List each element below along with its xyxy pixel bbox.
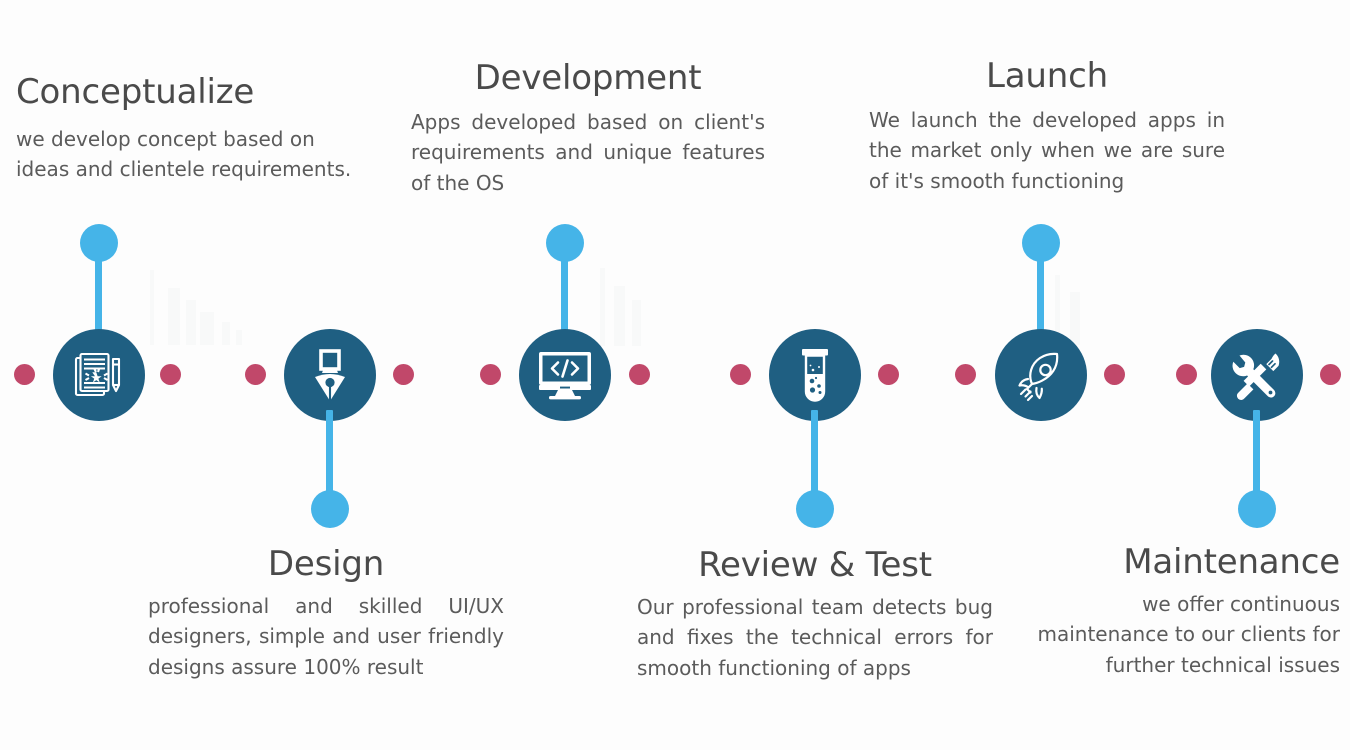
text-block-development: Development Apps developed based on clie… xyxy=(411,60,765,198)
step-description: we develop concept based on ideas and cl… xyxy=(16,124,374,185)
pen-nib-icon xyxy=(305,347,355,403)
text-block-conceptualize: Conceptualize we develop concept based o… xyxy=(16,74,374,185)
background-watermark xyxy=(600,268,605,346)
step-title: Conceptualize xyxy=(16,74,374,110)
node-icon-design[interactable] xyxy=(284,329,376,421)
test-tube-icon xyxy=(793,346,837,404)
axis-dot xyxy=(1176,364,1197,385)
background-watermark xyxy=(632,300,641,346)
axis-dot xyxy=(629,364,650,385)
background-watermark xyxy=(200,312,214,345)
text-block-maintenance: Maintenance we offer continuous maintena… xyxy=(1010,544,1340,680)
axis-dot xyxy=(730,364,751,385)
documents-with-star-and-pencil-icon xyxy=(71,347,127,403)
monitor-code-icon xyxy=(536,349,594,401)
background-watermark xyxy=(222,322,230,345)
step-description: we offer continuous maintenance to our c… xyxy=(1010,589,1340,680)
process-timeline-diagram: Conceptualize we develop concept based o… xyxy=(0,0,1350,750)
background-watermark xyxy=(236,330,242,345)
step-description: Apps developed based on client's require… xyxy=(411,107,765,198)
node-icon-launch[interactable] xyxy=(995,329,1087,421)
axis-dot xyxy=(1320,364,1341,385)
background-watermark xyxy=(186,300,196,345)
stem-launch xyxy=(1037,243,1044,338)
background-watermark xyxy=(1070,292,1080,345)
axis-dot xyxy=(480,364,501,385)
step-title: Launch xyxy=(869,58,1225,94)
node-icon-review-and-test[interactable] xyxy=(769,329,861,421)
step-description: We launch the developed apps in the mark… xyxy=(869,105,1225,196)
text-block-launch: Launch We launch the developed apps in t… xyxy=(869,58,1225,196)
background-watermark xyxy=(168,288,180,345)
axis-dot xyxy=(955,364,976,385)
axis-dot xyxy=(878,364,899,385)
stem-development xyxy=(561,243,568,338)
axis-dot xyxy=(14,364,35,385)
rocket-icon xyxy=(1012,346,1070,404)
step-title: Maintenance xyxy=(1010,544,1340,580)
step-title: Design xyxy=(148,546,504,582)
step-description: professional and skilled UI/UX designers… xyxy=(148,591,504,682)
background-watermark xyxy=(150,270,154,345)
stem-ball-design xyxy=(311,490,349,528)
axis-dot xyxy=(1104,364,1125,385)
text-block-design: Design professional and skilled UI/UX de… xyxy=(148,546,504,682)
stem-ball-review-and-test xyxy=(796,490,834,528)
step-description: Our professional team detects bug and fi… xyxy=(637,592,993,683)
wrench-screwdriver-icon xyxy=(1229,347,1285,403)
stem-ball-maintenance xyxy=(1238,490,1276,528)
text-block-review-and-test: Review & Test Our professional team dete… xyxy=(637,547,993,683)
node-icon-development[interactable] xyxy=(519,329,611,421)
axis-dot xyxy=(393,364,414,385)
stem-conceptualize xyxy=(95,243,102,338)
step-title: Review & Test xyxy=(637,547,993,583)
background-watermark xyxy=(614,286,625,346)
axis-dot xyxy=(160,364,181,385)
step-title: Development xyxy=(411,60,765,96)
node-icon-conceptualize[interactable] xyxy=(53,329,145,421)
node-icon-maintenance[interactable] xyxy=(1211,329,1303,421)
axis-dot xyxy=(245,364,266,385)
